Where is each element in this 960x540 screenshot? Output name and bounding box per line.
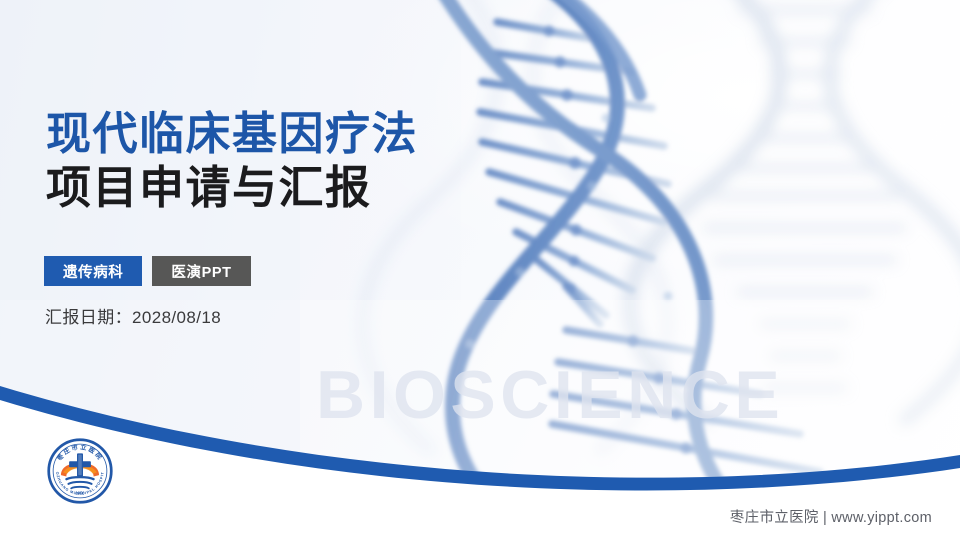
badge-group: 遗传病科 医演PPT xyxy=(44,256,251,286)
presentation-title-slide: BIOSCIENCE 现代临床基因疗法 项目申请与汇报 遗传病科 医演PPT 汇… xyxy=(0,0,960,540)
badge-department[interactable]: 遗传病科 xyxy=(44,256,142,286)
report-date: 汇报日期：2028/08/18 xyxy=(45,303,221,328)
slide-title: 现代临床基因疗法 项目申请与汇报 xyxy=(46,108,418,214)
title-line-2: 项目申请与汇报 xyxy=(46,162,418,214)
hospital-logo-icon: 枣庄市立医院 ZAOZHUANG MUNICIPAL HOSPITAL 1950 xyxy=(46,437,114,505)
badge-template-source[interactable]: 医演PPT xyxy=(152,256,250,286)
title-line-1: 现代临床基因疗法 xyxy=(46,108,418,160)
logo-year: 1950 xyxy=(75,490,85,495)
footer-credit: 枣庄市立医院 | www.yippt.com xyxy=(730,506,932,527)
